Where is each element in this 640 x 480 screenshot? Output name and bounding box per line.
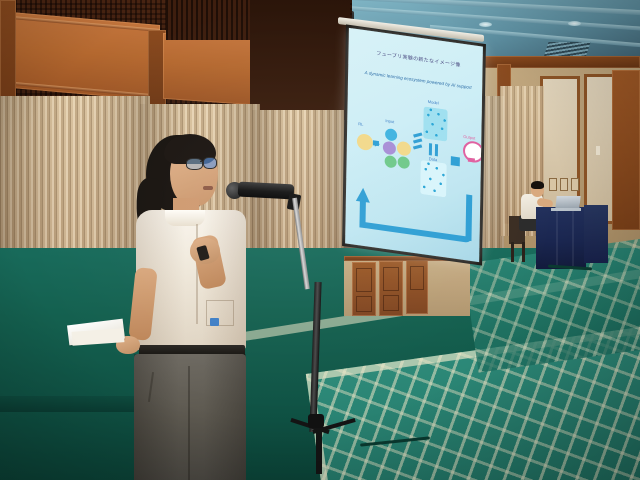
diagram-node (397, 141, 411, 157)
diagram-node (398, 156, 410, 170)
diagram-node (383, 141, 396, 156)
wall-plate-icon (571, 178, 579, 191)
diagram-model-box (423, 106, 448, 141)
wood-wall-panel (470, 56, 640, 68)
table-skirt-fold (556, 210, 558, 268)
wood-pillar (612, 70, 640, 230)
chair-leg (511, 242, 514, 262)
lattice-grille (166, 0, 262, 40)
diagram-node (385, 128, 397, 142)
feedback-loop-arrowhead-icon (356, 187, 370, 203)
diagram-block-icon (451, 156, 460, 166)
diagram-arrow-icon (429, 143, 432, 155)
diagram-chevron-icon (413, 132, 422, 137)
upper-wall-shadow (250, 0, 350, 120)
shirt-collar (165, 210, 205, 226)
wood-wall-panel (163, 33, 253, 105)
recessed-light-icon (479, 22, 492, 27)
av-table (584, 205, 608, 263)
wooden-door (379, 261, 403, 316)
feedback-loop-arrow (359, 221, 471, 243)
wooden-door (406, 260, 428, 314)
diagram-arrow-icon (435, 144, 438, 156)
slide-label-output: Output (463, 134, 475, 141)
recessed-light-icon (568, 21, 581, 26)
slide-label-model: Model (428, 99, 439, 106)
tripod-leg (316, 428, 322, 474)
tripod-hub (308, 414, 324, 428)
feedback-loop-arrow (465, 194, 472, 241)
trouser-crease (188, 366, 190, 480)
presenter-glasses (186, 158, 203, 170)
door-panel (356, 268, 372, 292)
door-panel (410, 266, 424, 290)
diagram-node (357, 133, 373, 151)
chair-leg (522, 242, 525, 262)
av-table (536, 207, 586, 269)
diagram-chevron-icon (413, 138, 422, 143)
presenter-mouth (203, 186, 213, 190)
diagram-chevron-icon (413, 144, 422, 149)
presenter-glasses-bridge (200, 161, 204, 162)
door-panel (356, 296, 372, 312)
table-skirt-fold (572, 210, 574, 266)
wall-panel (540, 76, 580, 216)
wall-switch-icon (596, 146, 600, 155)
presenter-badge (210, 318, 219, 326)
slide-label-data: Data (429, 156, 438, 162)
conference-room-photo: フューブリ実験の新たなイメージ像 A dynamic learning ecos… (0, 0, 640, 480)
wall-plate-icon (549, 178, 557, 191)
wall-plate-icon (560, 178, 568, 191)
slide-label-rl: RL (358, 121, 363, 127)
diagram-node (385, 155, 397, 169)
diagram-data-box (420, 160, 447, 198)
door-panel (383, 267, 399, 291)
trousers-shading (134, 354, 246, 480)
diagram-lightbulb-base (468, 158, 475, 163)
wooden-door (352, 262, 376, 316)
slide-label-input: Input (385, 118, 394, 124)
slide-subtitle: A dynamic learning ecosystem powered by … (348, 68, 483, 93)
projection-screen-frame: フューブリ実験の新たなイメージ像 A dynamic learning ecos… (342, 24, 486, 265)
presenter-glasses (203, 157, 217, 169)
diagram-arrow-block (373, 140, 379, 146)
slide-title: フューブリ実験の新たなイメージ像 (348, 46, 482, 73)
projection-screen: フューブリ実験の新たなイメージ像 A dynamic learning ecos… (345, 28, 483, 262)
microphone-body (238, 182, 295, 200)
door-panel (383, 295, 399, 311)
laptop-base (551, 208, 581, 211)
operator-hair (531, 181, 544, 189)
